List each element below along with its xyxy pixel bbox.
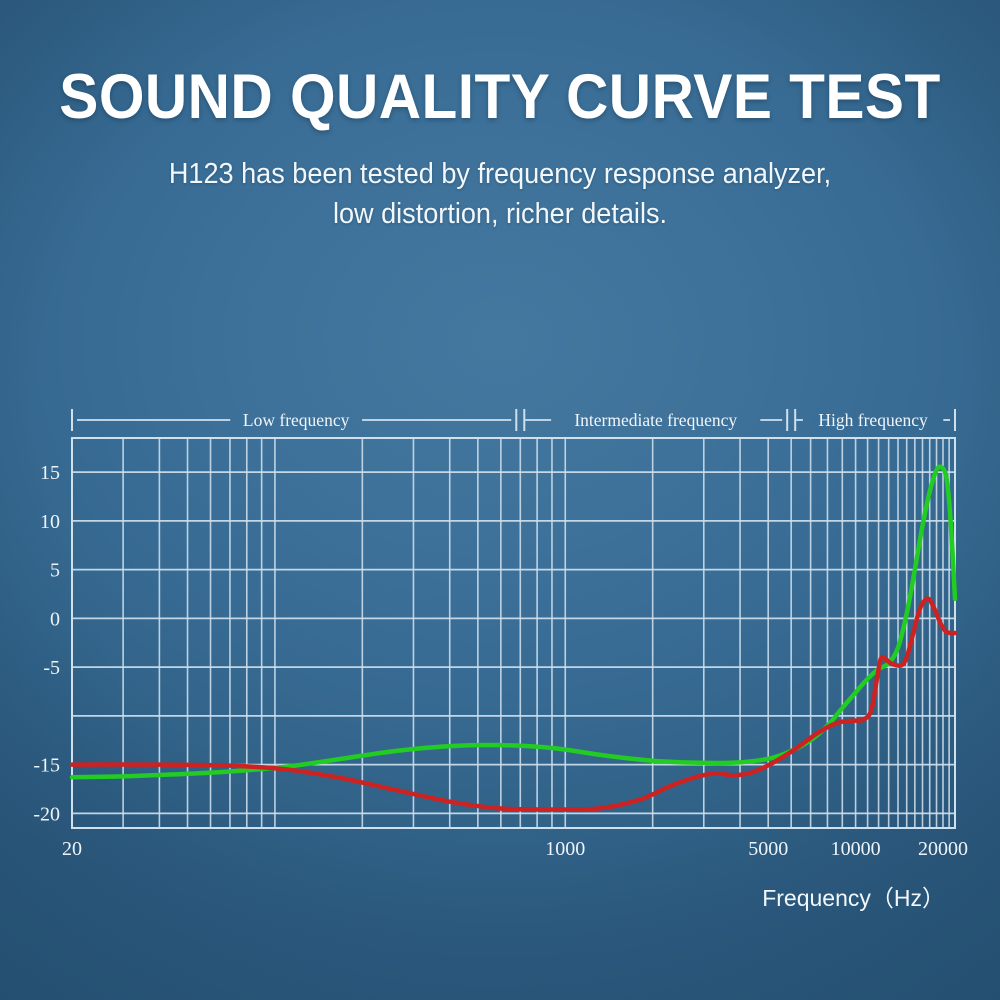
frequency-band-markers: Low frequencyIntermediate frequencyHigh … [72,409,955,431]
y-tick-label: 15 [40,462,60,484]
x-tick-label: 5000 [748,838,788,860]
red-response-curve [72,599,955,810]
y-axis-tick-labels: 151050-5-15-20 [33,462,60,825]
x-tick-label: 20 [62,838,82,860]
poster-root: SOUND QUALITY CURVE TEST H123 has been t… [0,0,1000,1000]
y-tick-label: -5 [43,657,60,679]
frequency-band-label: Low frequency [243,410,350,430]
y-tick-label: 5 [50,560,60,582]
x-tick-label: 1000 [545,838,585,860]
page-title: SOUND QUALITY CURVE TEST [35,0,965,131]
frequency-band-label: High frequency [818,410,928,430]
page-subtitle: H123 has been tested by frequency respon… [25,131,975,235]
x-axis-tick-labels: 20100050001000020000 [62,838,968,860]
subtitle-line-1: H123 has been tested by frequency respon… [25,154,975,194]
frequency-band-label: Intermediate frequency [574,410,737,430]
x-axis-title: Frequency（Hz） [762,885,945,911]
headings-block: SOUND QUALITY CURVE TEST H123 has been t… [0,0,1000,235]
y-tick-label: -20 [33,803,60,825]
x-tick-label: 20000 [918,838,968,860]
x-tick-label: 10000 [831,838,881,860]
subtitle-line-2: low distortion, richer details. [25,194,975,234]
grid-major-lines [72,472,955,813]
y-tick-label: -15 [33,755,60,777]
y-tick-label: 10 [40,511,60,533]
plot-frame [72,438,955,828]
y-tick-label: 0 [50,608,60,630]
